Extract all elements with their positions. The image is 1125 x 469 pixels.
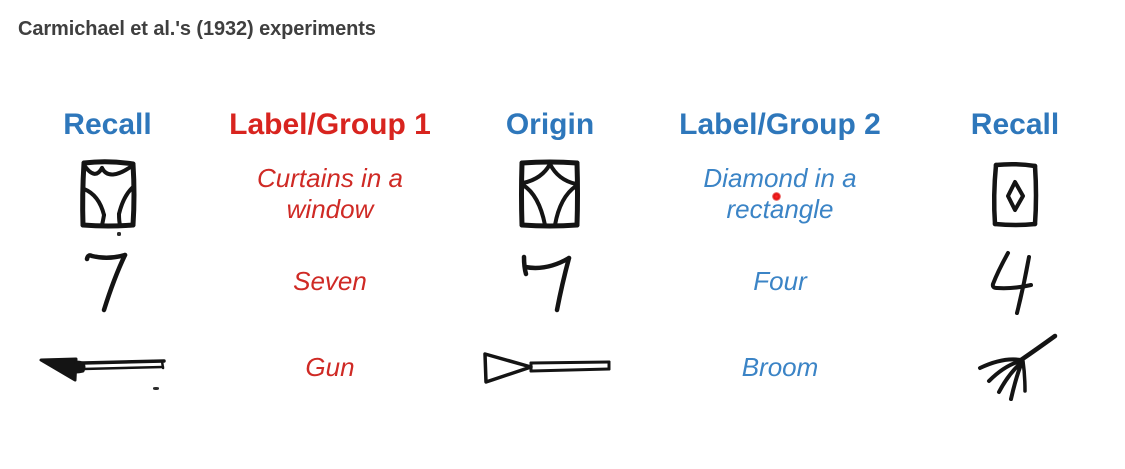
recall-left-figure-cell (0, 326, 215, 410)
gun-sketch-icon (0, 341, 215, 395)
label-group-2-row-3: Broom (655, 326, 905, 410)
ambiguous-gun-broom-sketch-icon (445, 342, 655, 394)
ambiguous-rectangle-curves-sketch-icon (445, 155, 655, 233)
column-header-label-group-2: Label/Group 2 (655, 100, 905, 150)
table-header-row: Recall Label/Group 1 Origin Label/Group … (0, 100, 1125, 150)
column-header-label-group-1: Label/Group 1 (215, 100, 445, 150)
numeral-four-sketch-icon (905, 245, 1125, 319)
column-header-origin: Origin (445, 100, 655, 150)
table-row: Seven Four (0, 238, 1125, 326)
label-group-1-row-1: Curtains in a window (215, 150, 445, 238)
recall-left-figure-cell (0, 150, 215, 238)
carmichael-results-table: Recall Label/Group 1 Origin Label/Group … (0, 100, 1125, 410)
recall-left-figure-cell (0, 238, 215, 326)
label-group-1-row-2: Seven (215, 238, 445, 326)
table-row: Gun Broom (0, 326, 1125, 410)
broom-sketch-icon (905, 329, 1125, 407)
numeral-seven-sketch-icon (0, 246, 215, 318)
recall-right-figure-cell (905, 326, 1125, 410)
label-group-2-row-1: Diamond in a rectangle (655, 150, 905, 238)
page-title: Carmichael et al.'s (1932) experiments (18, 18, 376, 41)
origin-figure-cell (445, 238, 655, 326)
table-row: Curtains in a window (0, 150, 1125, 238)
diamond-in-rectangle-sketch-icon (905, 156, 1125, 232)
recall-right-figure-cell (905, 150, 1125, 238)
label-group-1-row-3: Gun (215, 326, 445, 410)
ink-speck (153, 387, 159, 390)
ambiguous-seven-four-sketch-icon (445, 246, 655, 318)
slide-canvas: Carmichael et al.'s (1932) experiments R… (0, 0, 1125, 469)
origin-figure-cell (445, 150, 655, 238)
column-header-recall-left: Recall (0, 100, 215, 150)
curtains-in-window-sketch-icon (0, 155, 215, 233)
recall-right-figure-cell (905, 238, 1125, 326)
ink-speck (117, 232, 121, 236)
origin-figure-cell (445, 326, 655, 410)
label-group-2-row-2: Four (655, 238, 905, 326)
column-header-recall-right: Recall (905, 100, 1125, 150)
